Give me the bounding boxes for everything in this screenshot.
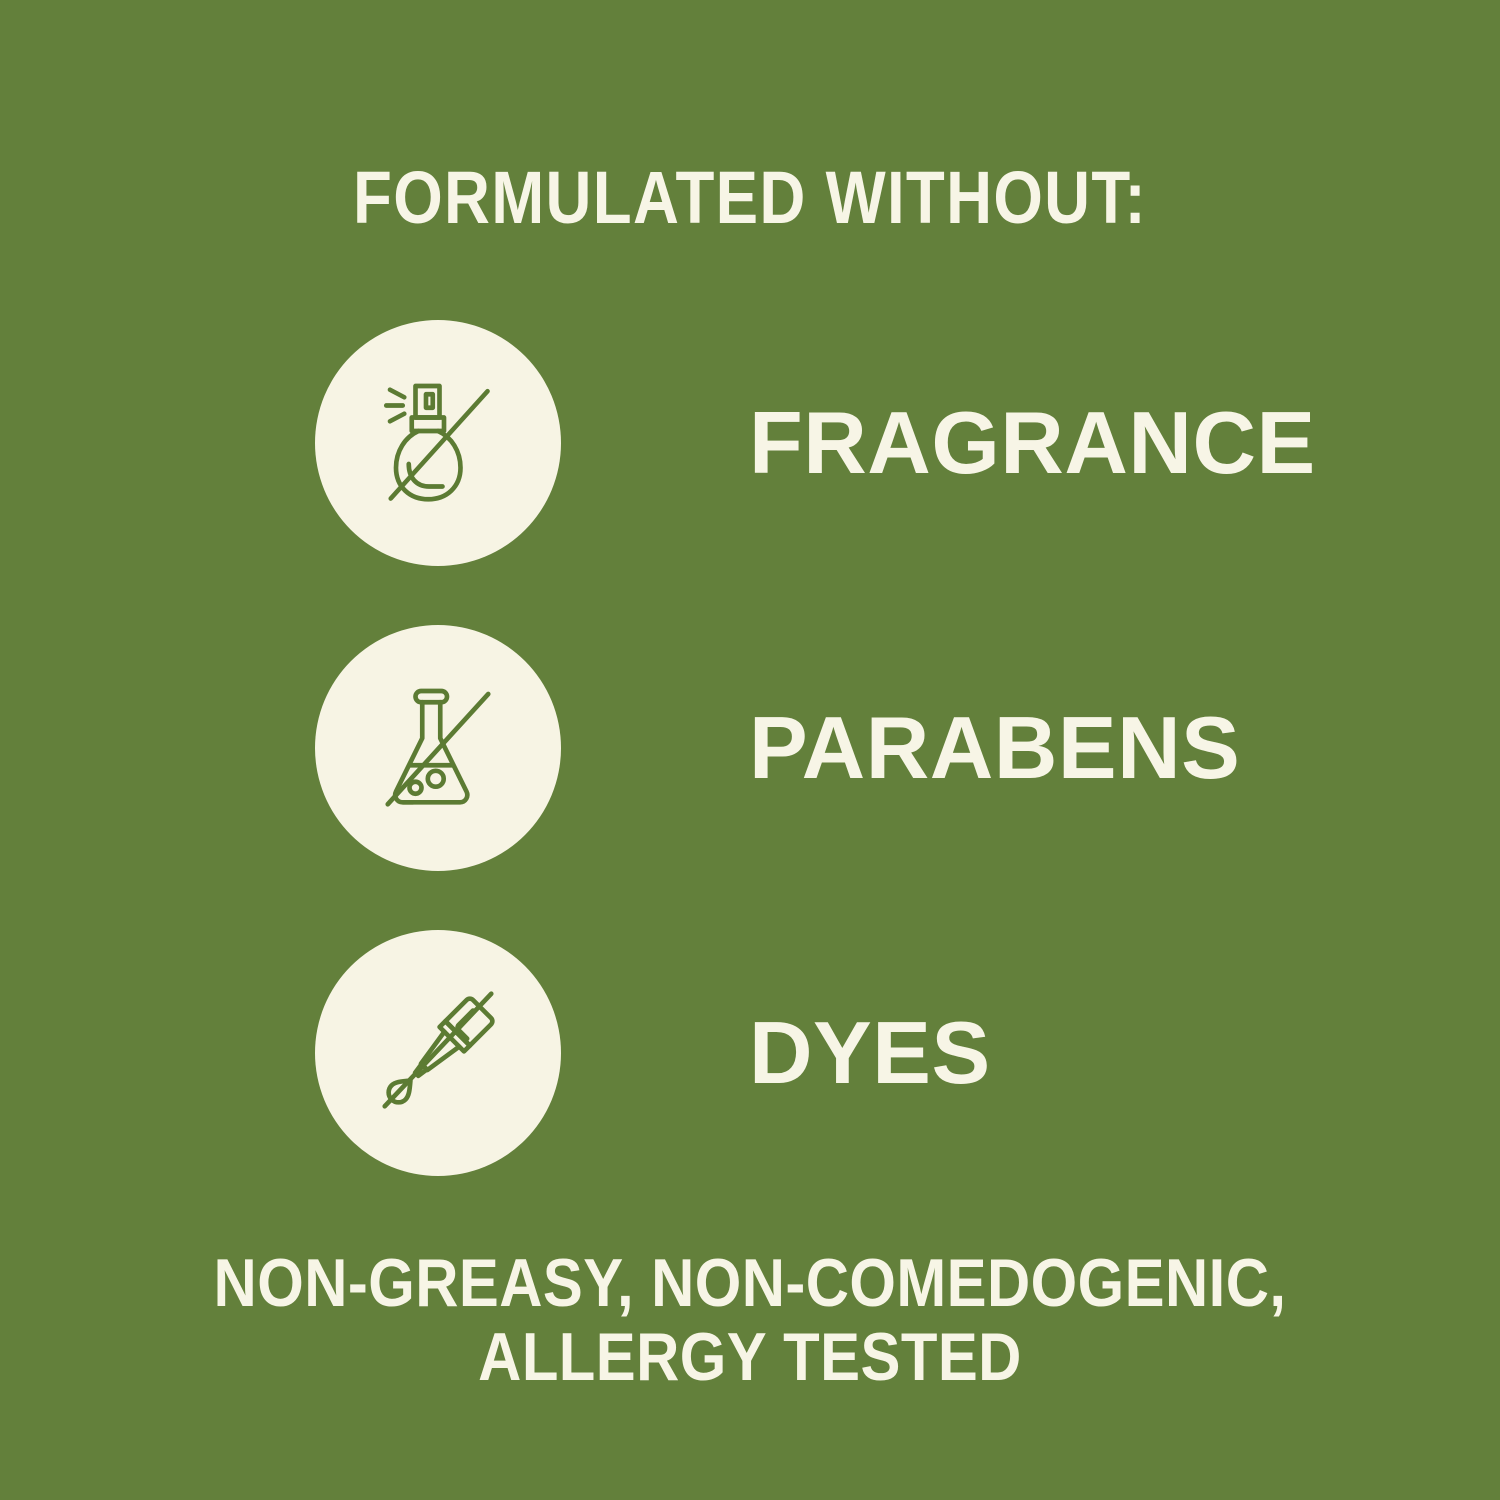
list-item-label: FRAGRANCE xyxy=(749,398,1316,488)
footer-line-2: ALLERGY TESTED xyxy=(90,1320,1410,1394)
list-item: PARABENS xyxy=(315,625,1315,871)
badge-circle-dyes xyxy=(315,930,561,1176)
no-chemical-flask-icon xyxy=(363,673,513,823)
no-dropper-icon xyxy=(363,978,513,1128)
formulated-without-card: FORMULATED WITHOUT: xyxy=(0,0,1500,1500)
badge-circle-parabens xyxy=(315,625,561,871)
no-fragrance-bottle-icon xyxy=(363,368,513,518)
list-item-label: PARABENS xyxy=(749,703,1240,793)
footer-line-1: NON-GREASY, NON-COMEDOGENIC, xyxy=(90,1246,1410,1320)
badge-circle-fragrance xyxy=(315,320,561,566)
list-item: FRAGRANCE xyxy=(315,320,1315,566)
list-item: DYES xyxy=(315,930,1315,1176)
page-title: FORMULATED WITHOUT: xyxy=(105,158,1395,238)
footer-claims: NON-GREASY, NON-COMEDOGENIC, ALLERGY TES… xyxy=(90,1246,1410,1394)
list-item-label: DYES xyxy=(749,1008,991,1098)
